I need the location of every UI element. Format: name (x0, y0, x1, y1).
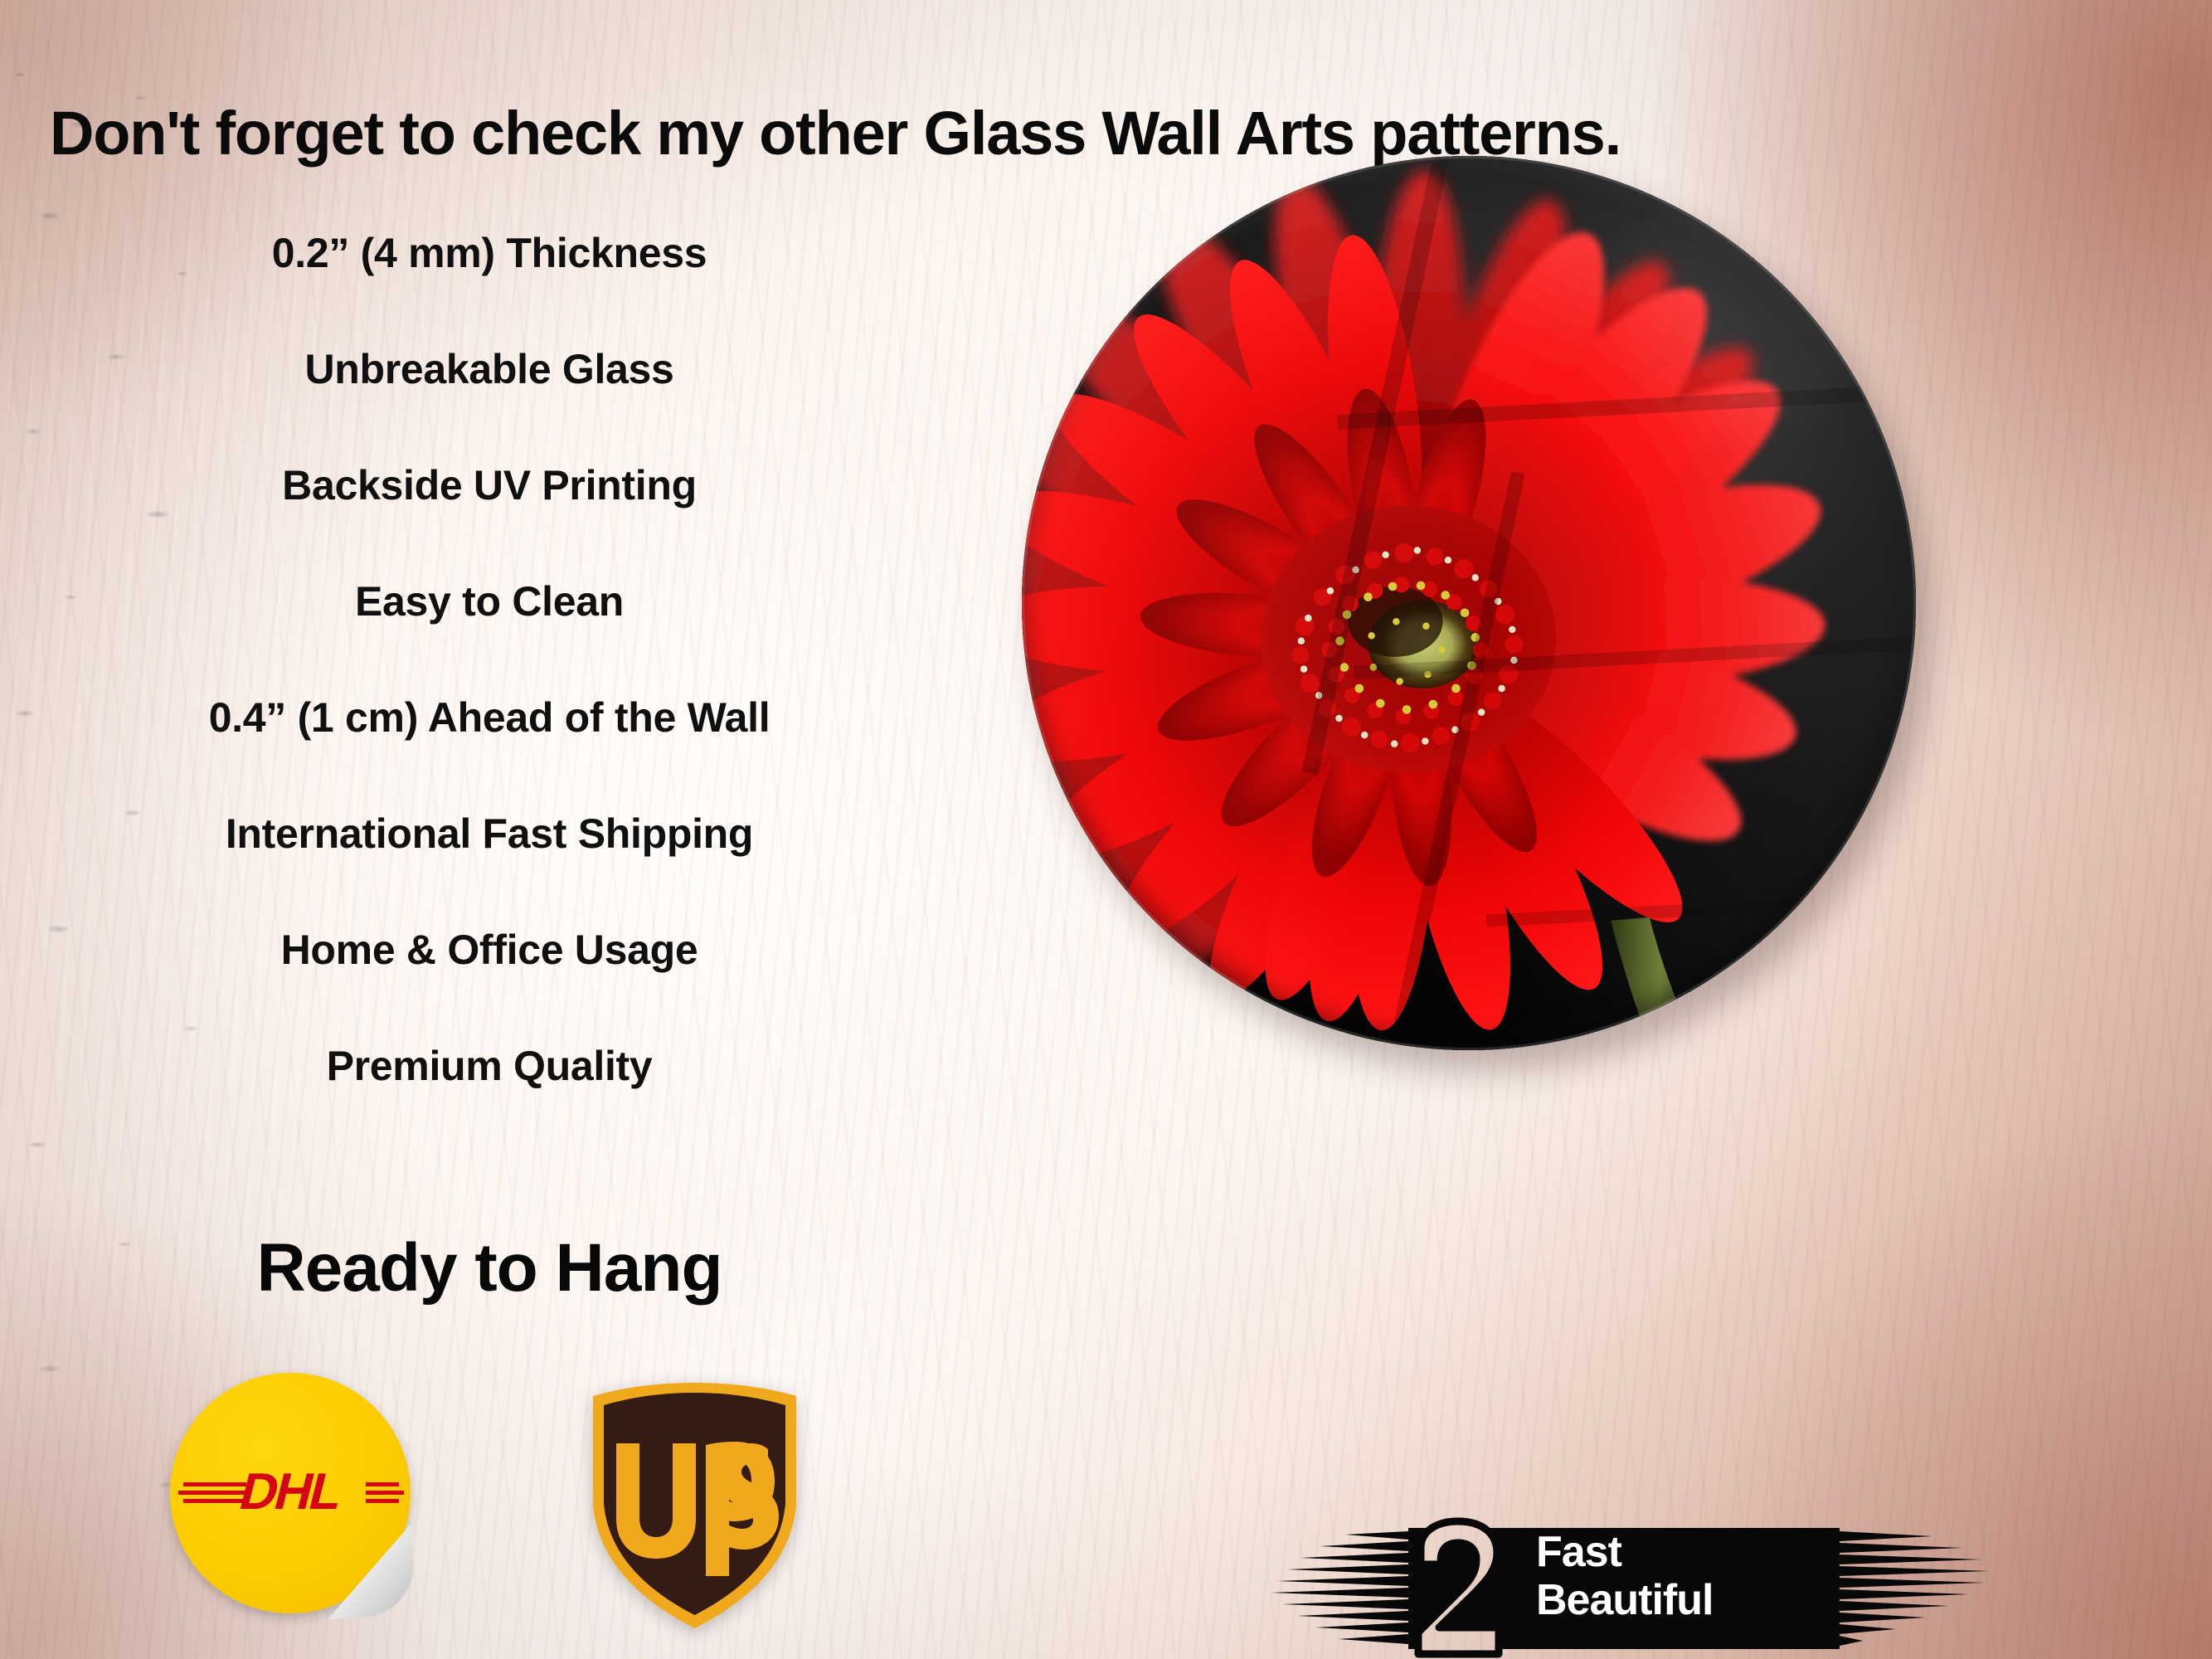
dhl-speed-line-left-2 (178, 1491, 246, 1495)
feature-item-fast-shipping: International Fast Shipping (226, 813, 753, 854)
feature-item-home-office: Home & Office Usage (281, 929, 698, 971)
feature-item-uv-printing: Backside UV Printing (282, 465, 697, 506)
product-marketing-poster: Don't forget to check my other Glass Wal… (0, 0, 2212, 1659)
feature-item-easy-clean: Easy to Clean (355, 581, 624, 622)
brand-tagline-line2: Beautiful (1536, 1579, 1713, 1622)
brand-logo-2-fast-beautiful: Fast Beautiful (1269, 1516, 1991, 1659)
glass-wall-art-product[interactable] (1022, 156, 1916, 1050)
glass-panel-rim (1022, 156, 1916, 1050)
dhl-speed-line-right-2 (366, 1491, 404, 1495)
dhl-speed-line-right-1 (366, 1482, 399, 1486)
feature-list: 0.2” (4 mm) Thickness Unbreakable Glass … (0, 232, 979, 1161)
ready-to-hang-callout: Ready to Hang (0, 1229, 979, 1307)
brand-speed-streaks-right (1840, 1531, 1989, 1646)
feature-item-wall-offset: 0.4” (1 cm) Ahead of the Wall (209, 697, 771, 738)
dhl-speed-line-left-1 (183, 1482, 246, 1486)
ups-logo (585, 1381, 805, 1630)
dhl-logo: DHL (170, 1373, 411, 1613)
brand-tagline-line1: Fast (1536, 1531, 1713, 1574)
dhl-speed-line-left-3 (183, 1499, 246, 1503)
dhl-wordmark-group: DHL (170, 1457, 411, 1529)
feature-item-thickness: 0.2” (4 mm) Thickness (272, 232, 707, 274)
brand-speed-streaks-left (1271, 1531, 1408, 1644)
feature-item-unbreakable: Unbreakable Glass (304, 348, 673, 390)
brand-tagline: Fast Beautiful (1536, 1531, 1713, 1622)
dhl-wordmark: DHL (234, 1462, 347, 1521)
feature-item-premium-quality: Premium Quality (327, 1045, 653, 1087)
dhl-speed-line-right-3 (366, 1499, 399, 1503)
